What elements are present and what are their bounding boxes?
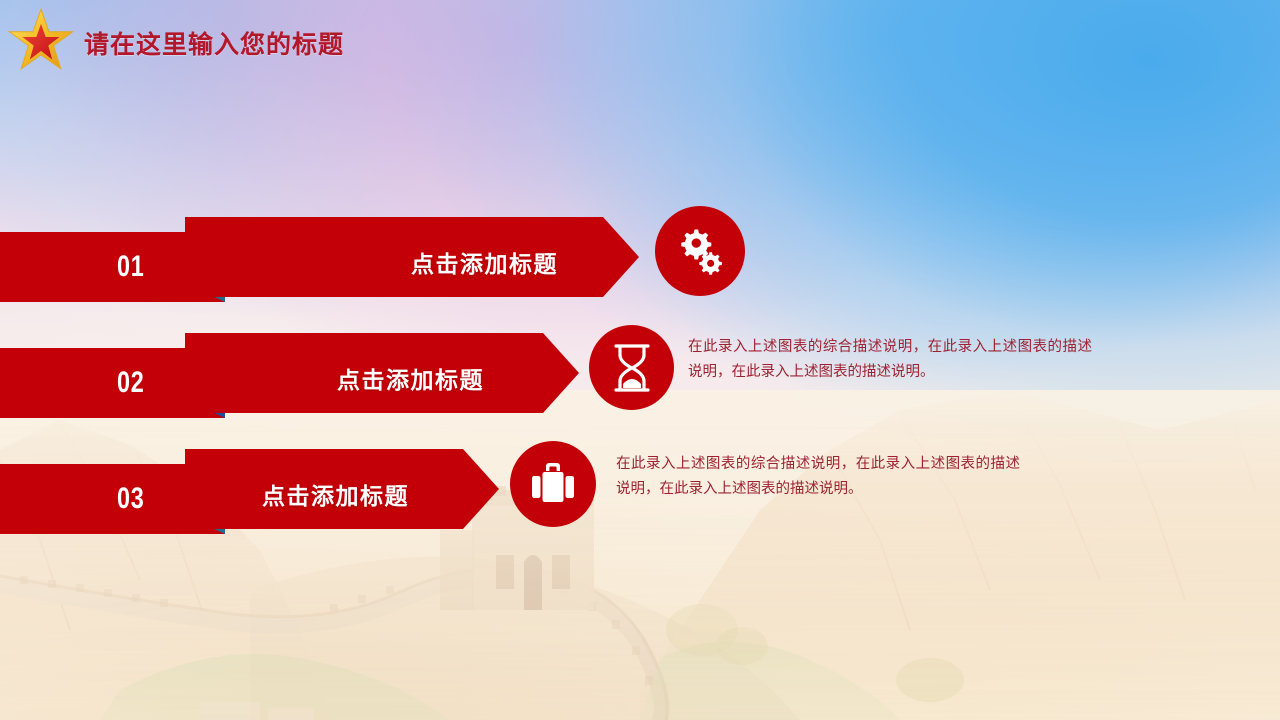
row-number-01: 01 — [117, 250, 145, 284]
slide-header: 请在这里输入您的标题 — [0, 0, 1280, 76]
arrow-tip-03 — [463, 449, 499, 529]
gold-red-star-icon — [8, 8, 74, 68]
briefcase-icon-circle-03[interactable] — [510, 441, 596, 527]
gears-icon — [673, 224, 727, 278]
row-description-02: 在此录入上述图表的综合描述说明，在此录入上述图表的描述说明，在此录入上述图表的描… — [688, 335, 1092, 385]
hourglass-icon — [610, 342, 654, 394]
arrow-tip-01 — [603, 217, 639, 297]
great-wall-painting — [0, 390, 1280, 720]
briefcase-icon — [529, 462, 577, 506]
row-title-03[interactable]: 点击添加标题 — [262, 477, 409, 511]
slide-canvas: 请在这里输入您的标题 01 点击添加标题 02 点击添加标题 — [0, 0, 1280, 720]
row-title-01[interactable]: 点击添加标题 — [411, 245, 558, 279]
hourglass-icon-circle-02[interactable] — [589, 325, 674, 410]
row-description-03: 在此录入上述图表的综合描述说明，在此录入上述图表的描述说明，在此录入上述图表的描… — [616, 452, 1020, 502]
row-title-02[interactable]: 点击添加标题 — [337, 361, 484, 395]
arrow-tip-02 — [543, 333, 579, 413]
row-number-03: 03 — [117, 482, 145, 516]
row-number-02: 02 — [117, 366, 145, 400]
page-title: 请在这里输入您的标题 — [84, 25, 344, 61]
gears-icon-circle-01[interactable] — [655, 206, 745, 296]
